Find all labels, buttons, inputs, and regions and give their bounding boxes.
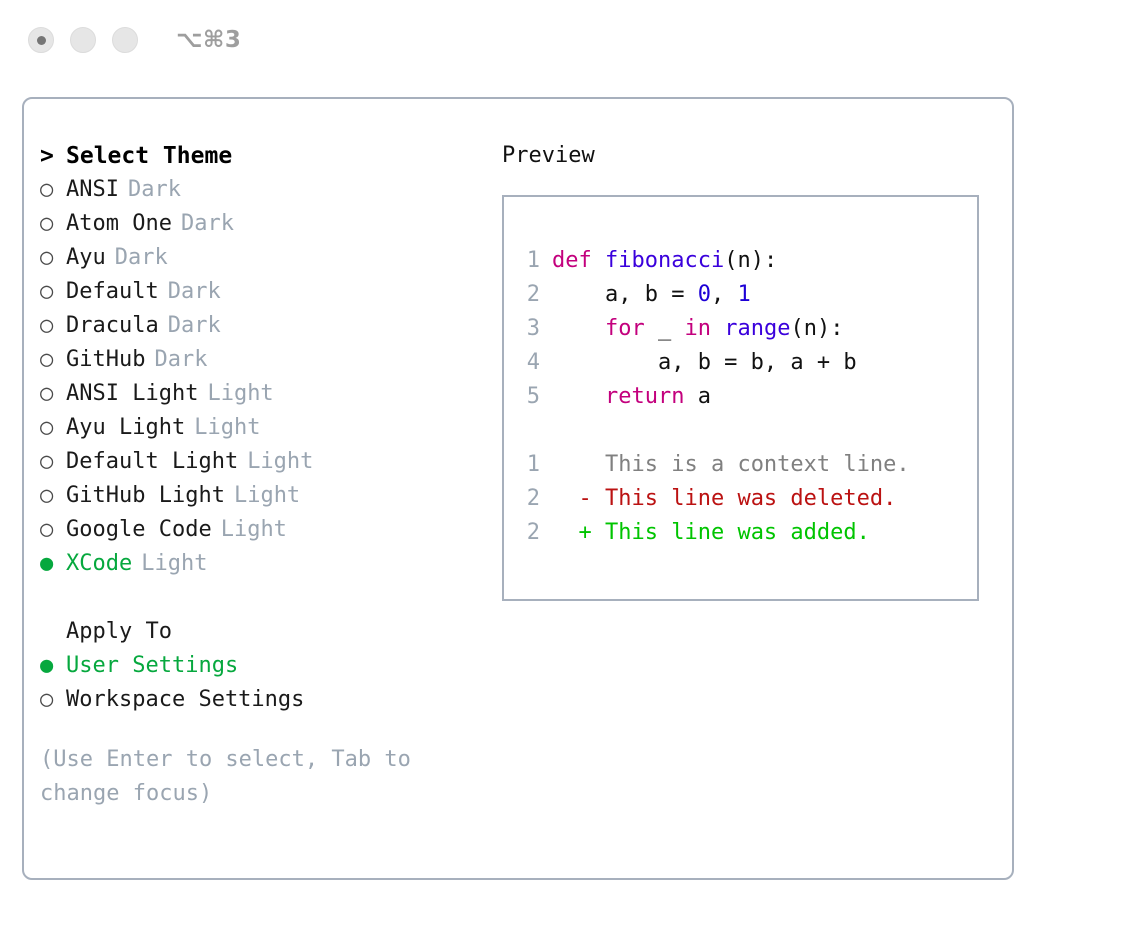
code-token-num: 0 xyxy=(698,282,711,307)
theme-item-ayu-light[interactable]: ○Ayu LightLight xyxy=(40,411,490,445)
window-dot-third[interactable] xyxy=(112,27,138,53)
apply-to-marker-placeholder: ○ xyxy=(40,615,66,649)
theme-item-xcode[interactable]: ●XCodeLight xyxy=(40,547,490,581)
theme-item-label: GitHub xyxy=(66,347,145,372)
theme-item-variant-tag: Dark xyxy=(181,211,234,236)
code-line: 5 return a xyxy=(516,380,910,414)
theme-item-default-light[interactable]: ○Default LightLight xyxy=(40,445,490,479)
apply-to-heading-label: Apply To xyxy=(66,619,172,644)
theme-item-variant-tag: Dark xyxy=(168,313,221,338)
theme-item-variant-tag: Light xyxy=(234,483,300,508)
theme-item-variant-tag: Light xyxy=(194,415,260,440)
theme-item-label: ANSI Light xyxy=(66,381,198,406)
preview-title: Preview xyxy=(502,139,1002,173)
code-line-number: 3 xyxy=(516,312,540,346)
code-token-pl xyxy=(711,316,724,341)
theme-item-variant-tag: Light xyxy=(141,551,207,576)
code-token-kw: for xyxy=(605,316,645,341)
code-line-number: 1 xyxy=(516,244,540,278)
window-titlebar: ⌥⌘3 xyxy=(0,0,1140,80)
preview-box: 1def fibonacci(n):2 a, b = 0, 13 for _ i… xyxy=(502,195,979,601)
theme-item-label: XCode xyxy=(66,551,132,576)
theme-item-google-code[interactable]: ○Google CodeLight xyxy=(40,513,490,547)
radio-unselected-icon: ○ xyxy=(40,683,66,717)
code-token-pl: (n): xyxy=(724,248,777,273)
heading-caret-icon: > xyxy=(40,139,66,173)
code-token-pl xyxy=(552,316,605,341)
radio-unselected-icon: ○ xyxy=(40,513,66,547)
radio-unselected-icon: ○ xyxy=(40,377,66,411)
window-dot-active[interactable] xyxy=(28,27,54,53)
diff-marker xyxy=(552,452,592,477)
code-token-num: 1 xyxy=(737,282,750,307)
list-spacer xyxy=(40,581,490,615)
main-panel: >Select Theme ○ANSIDark○Atom OneDark○Ayu… xyxy=(22,97,1014,880)
radio-unselected-icon: ○ xyxy=(40,479,66,513)
theme-item-variant-tag: Dark xyxy=(128,177,181,202)
diff-marker: + xyxy=(552,520,592,545)
theme-item-dracula[interactable]: ○DraculaDark xyxy=(40,309,490,343)
panel-columns: >Select Theme ○ANSIDark○Atom OneDark○Ayu… xyxy=(24,99,1012,878)
select-theme-heading: >Select Theme xyxy=(40,139,490,173)
code-token-kw: in xyxy=(684,316,711,341)
theme-item-label: Dracula xyxy=(66,313,159,338)
code-preview: 1def fibonacci(n):2 a, b = 0, 13 for _ i… xyxy=(516,244,910,550)
theme-item-label: Default xyxy=(66,279,159,304)
radio-unselected-icon: ○ xyxy=(40,309,66,343)
code-token-fn: fibonacci xyxy=(605,248,724,273)
theme-item-github-light[interactable]: ○GitHub LightLight xyxy=(40,479,490,513)
apply-to-item-workspace-settings[interactable]: ○Workspace Settings xyxy=(40,683,490,717)
radio-unselected-icon: ○ xyxy=(40,207,66,241)
code-token-fn: range xyxy=(724,316,790,341)
code-line: 3 for _ in range(n): xyxy=(516,312,910,346)
theme-item-ansi[interactable]: ○ANSIDark xyxy=(40,173,490,207)
diff-text: This is a context line. xyxy=(592,452,910,477)
window-controls xyxy=(28,27,138,53)
keyboard-hint-text: (Use Enter to select, Tab to change focu… xyxy=(40,743,450,811)
code-line-number: 2 xyxy=(516,516,540,550)
radio-unselected-icon: ○ xyxy=(40,275,66,309)
theme-item-variant-tag: Light xyxy=(247,449,313,474)
theme-item-label: Google Code xyxy=(66,517,212,542)
diff-line-add: 2 + This line was added. xyxy=(516,516,910,550)
code-token-pl: , xyxy=(711,282,738,307)
code-line: 1def fibonacci(n): xyxy=(516,244,910,278)
preview-column: Preview 1def fibonacci(n):2 a, b = 0, 13… xyxy=(502,139,1002,601)
theme-item-label: Ayu xyxy=(66,245,106,270)
code-token-pl: a, b = xyxy=(552,282,698,307)
code-line: 2 a, b = 0, 1 xyxy=(516,278,910,312)
apply-to-item-label: User Settings xyxy=(66,653,238,678)
code-line-number: 1 xyxy=(516,448,540,482)
theme-item-label: Atom One xyxy=(66,211,172,236)
theme-item-atom-one[interactable]: ○Atom OneDark xyxy=(40,207,490,241)
code-token-kw: return xyxy=(605,384,684,409)
theme-list: ○ANSIDark○Atom OneDark○AyuDark○DefaultDa… xyxy=(40,173,490,581)
theme-item-label: GitHub Light xyxy=(66,483,225,508)
theme-item-variant-tag: Light xyxy=(207,381,273,406)
theme-item-label: Default Light xyxy=(66,449,238,474)
code-line-number: 5 xyxy=(516,380,540,414)
theme-item-default[interactable]: ○DefaultDark xyxy=(40,275,490,309)
diff-text: This line was added. xyxy=(592,520,870,545)
code-token-pl xyxy=(552,384,605,409)
radio-unselected-icon: ○ xyxy=(40,411,66,445)
theme-item-variant-tag: Dark xyxy=(115,245,168,270)
theme-item-variant-tag: Dark xyxy=(168,279,221,304)
code-line-number: 2 xyxy=(516,278,540,312)
code-blank-line xyxy=(516,414,910,448)
apply-to-heading: ○Apply To xyxy=(40,615,490,649)
radio-selected-icon: ● xyxy=(40,547,66,581)
apply-to-item-user-settings[interactable]: ●User Settings xyxy=(40,649,490,683)
theme-item-ayu[interactable]: ○AyuDark xyxy=(40,241,490,275)
apply-to-list: ●User Settings○Workspace Settings xyxy=(40,649,490,717)
keyboard-shortcut-label: ⌥⌘3 xyxy=(176,27,241,53)
code-token-pl: (n): xyxy=(790,316,843,341)
theme-item-variant-tag: Light xyxy=(221,517,287,542)
window-dot-active-inner xyxy=(37,36,46,45)
diff-line-ctx: 1 This is a context line. xyxy=(516,448,910,482)
code-token-pl: _ xyxy=(645,316,685,341)
theme-item-label: Ayu Light xyxy=(66,415,185,440)
code-token-pl: a xyxy=(684,384,711,409)
radio-selected-icon: ● xyxy=(40,649,66,683)
code-token-pl: a, b = b, a + b xyxy=(552,350,857,375)
apply-to-item-label: Workspace Settings xyxy=(66,687,304,712)
radio-unselected-icon: ○ xyxy=(40,173,66,207)
select-theme-heading-label: Select Theme xyxy=(66,143,232,169)
theme-item-ansi-light[interactable]: ○ANSI LightLight xyxy=(40,377,490,411)
theme-item-github[interactable]: ○GitHubDark xyxy=(40,343,490,377)
radio-unselected-icon: ○ xyxy=(40,445,66,479)
code-line-number: 4 xyxy=(516,346,540,380)
code-line: 4 a, b = b, a + b xyxy=(516,346,910,380)
radio-unselected-icon: ○ xyxy=(40,343,66,377)
diff-line-del: 2 - This line was deleted. xyxy=(516,482,910,516)
code-token-kw: def xyxy=(552,248,605,273)
theme-item-variant-tag: Dark xyxy=(154,347,207,372)
code-line-number: 2 xyxy=(516,482,540,516)
theme-selector-column: >Select Theme ○ANSIDark○Atom OneDark○Ayu… xyxy=(40,139,490,811)
diff-text: This line was deleted. xyxy=(592,486,897,511)
diff-marker: - xyxy=(552,486,592,511)
radio-unselected-icon: ○ xyxy=(40,241,66,275)
window-dot-second[interactable] xyxy=(70,27,96,53)
theme-item-label: ANSI xyxy=(66,177,119,202)
